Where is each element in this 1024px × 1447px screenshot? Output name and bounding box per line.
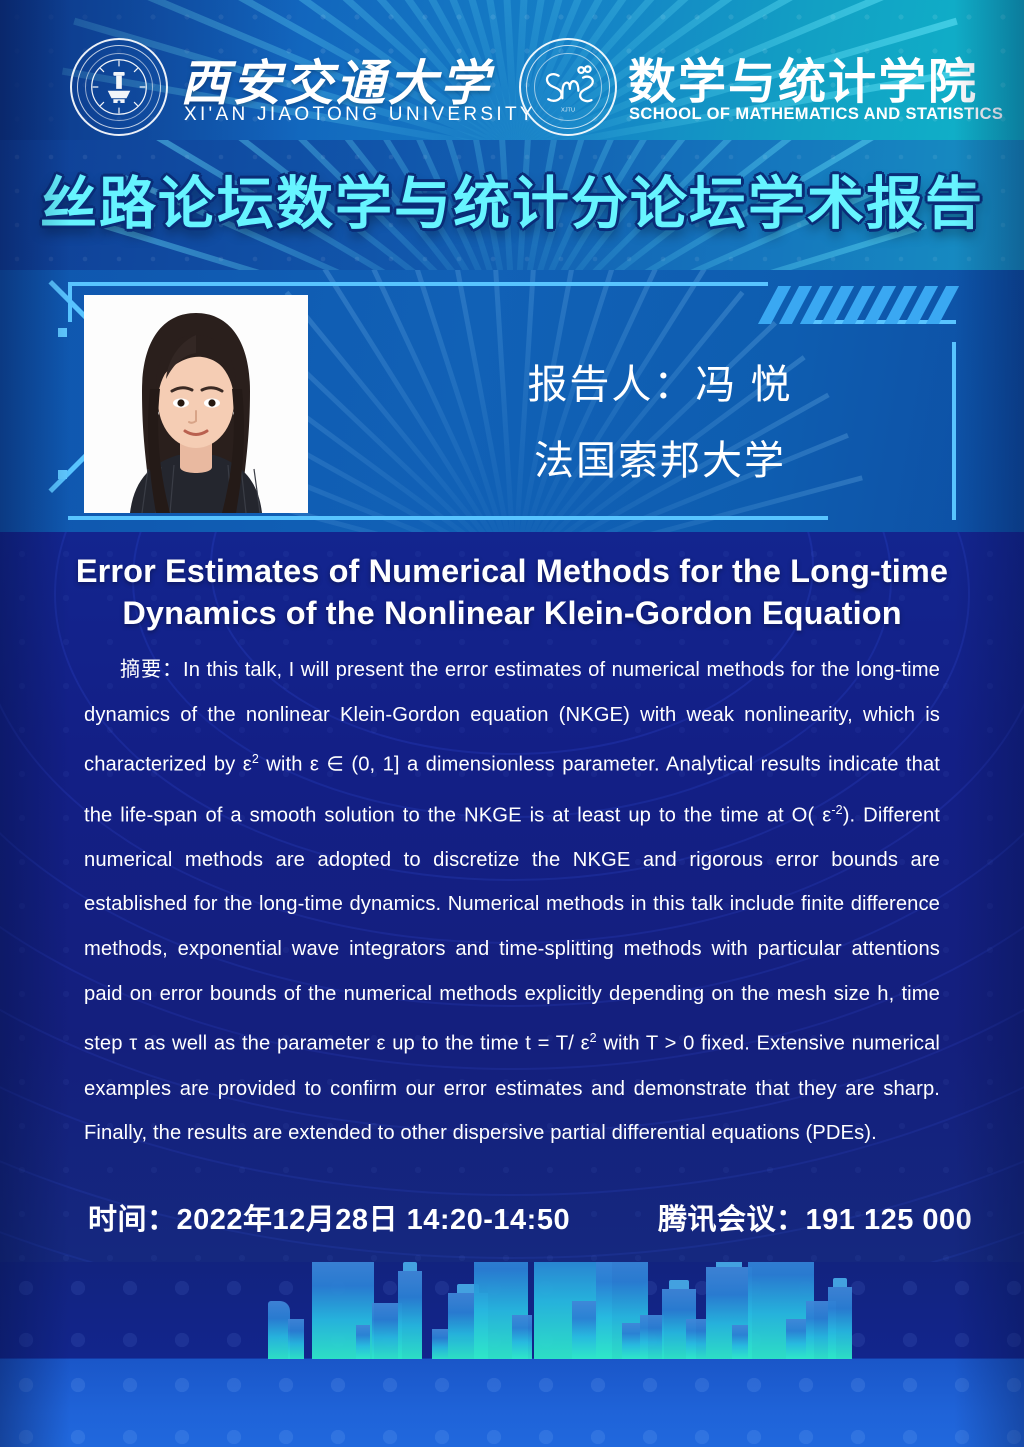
footer-ground-dots bbox=[0, 1359, 1024, 1447]
frame-accent-dot bbox=[58, 328, 67, 337]
skyline-building bbox=[356, 1325, 370, 1359]
skyline-building bbox=[572, 1301, 598, 1359]
skyline-building bbox=[398, 1271, 422, 1359]
talk-title: Error Estimates of Numerical Methods for… bbox=[62, 550, 962, 634]
diagonal-stripes-decor bbox=[758, 286, 968, 324]
meeting-time-label: 时间： bbox=[88, 1204, 177, 1236]
epsilon-exponent-1: 2 bbox=[252, 752, 259, 766]
meeting-time: 时间：2022年12月28日 14:20-14:50 bbox=[88, 1196, 570, 1238]
meeting-id: 腾讯会议：191 125 000 bbox=[658, 1196, 972, 1238]
xjtu-seal-icon bbox=[70, 38, 168, 136]
abstract-part-4: ). Different numerical methods are adopt… bbox=[84, 804, 940, 1055]
skyline-building bbox=[828, 1287, 852, 1359]
speaker-name: 报告人：冯 悦 bbox=[380, 352, 940, 410]
sms-name-cn: 数学与统计学院 bbox=[628, 42, 978, 112]
meeting-id-value: 191 125 000 bbox=[806, 1204, 973, 1236]
logo-row: 西安交通大学 XI'AN JIAOTONG UNIVERSITY XJTU 数学… bbox=[0, 0, 1024, 140]
city-skyline-icon bbox=[0, 1262, 1024, 1359]
frame-segment bbox=[68, 282, 768, 286]
building-antenna bbox=[403, 1262, 416, 1271]
frame-segment bbox=[68, 516, 828, 520]
skyline-building bbox=[786, 1319, 806, 1359]
xjtu-seal-glyph bbox=[72, 40, 166, 134]
abstract-text: 摘要：In this talk, I will present the erro… bbox=[84, 648, 940, 1156]
xjtu-name-en: XI'AN JIAOTONG UNIVERSITY bbox=[184, 104, 536, 126]
abstract-part-5: as well as the parameter bbox=[137, 1033, 376, 1055]
poster-main-title: 丝路论坛数学与统计分论坛学术报告 bbox=[0, 158, 1024, 240]
skyline-building bbox=[640, 1315, 664, 1359]
building-antenna bbox=[716, 1262, 742, 1267]
epsilon-exponent-3: -2 bbox=[831, 803, 842, 817]
epsilon-symbol-1: ε bbox=[243, 754, 252, 776]
skyline-building bbox=[268, 1301, 290, 1359]
meeting-time-value: 2022年12月28日 14:20-14:50 bbox=[177, 1204, 571, 1236]
epsilon-symbol-2: ε bbox=[310, 754, 319, 776]
epsilon-symbol-4: ε bbox=[377, 1033, 386, 1055]
skyline-building bbox=[288, 1319, 304, 1359]
meeting-id-label: 腾讯会议： bbox=[658, 1204, 806, 1236]
footer-band bbox=[0, 1262, 1024, 1447]
epsilon-symbol-5: ε bbox=[581, 1033, 590, 1055]
sms-seal-icon: XJTU bbox=[519, 38, 617, 136]
poster-root: 西安交通大学 XI'AN JIAOTONG UNIVERSITY XJTU 数学… bbox=[0, 0, 1024, 1447]
footer-ground bbox=[0, 1359, 1024, 1447]
sms-monogram-glyph: XJTU bbox=[521, 40, 615, 134]
skyline-building bbox=[512, 1315, 532, 1359]
speaker-affiliation: 法国索邦大学 bbox=[380, 428, 940, 486]
skyline-building bbox=[622, 1323, 640, 1359]
epsilon-exponent-5: 2 bbox=[590, 1031, 597, 1045]
abstract-part-6: up to the time t = T/ bbox=[386, 1033, 581, 1055]
abstract-part-2: with bbox=[259, 754, 310, 776]
talk-title-line2: Dynamics of the Nonlinear Klein-Gordon E… bbox=[122, 595, 901, 631]
abstract-label: 摘要： bbox=[120, 659, 183, 681]
building-antenna bbox=[669, 1280, 688, 1289]
frame-accent-dot bbox=[58, 470, 67, 479]
skyline-building bbox=[686, 1319, 706, 1359]
portrait-illustration bbox=[84, 295, 308, 513]
building-antenna bbox=[833, 1278, 846, 1287]
svg-text:XJTU: XJTU bbox=[561, 107, 575, 113]
epsilon-symbol-3: ε bbox=[822, 804, 831, 826]
sms-name-en: SCHOOL OF MATHEMATICS AND STATISTICS bbox=[629, 105, 1003, 124]
speaker-photo bbox=[84, 295, 308, 513]
frame-segment bbox=[952, 342, 956, 520]
skyline-building bbox=[432, 1329, 448, 1359]
talk-title-line1: Error Estimates of Numerical Methods for… bbox=[76, 553, 948, 589]
